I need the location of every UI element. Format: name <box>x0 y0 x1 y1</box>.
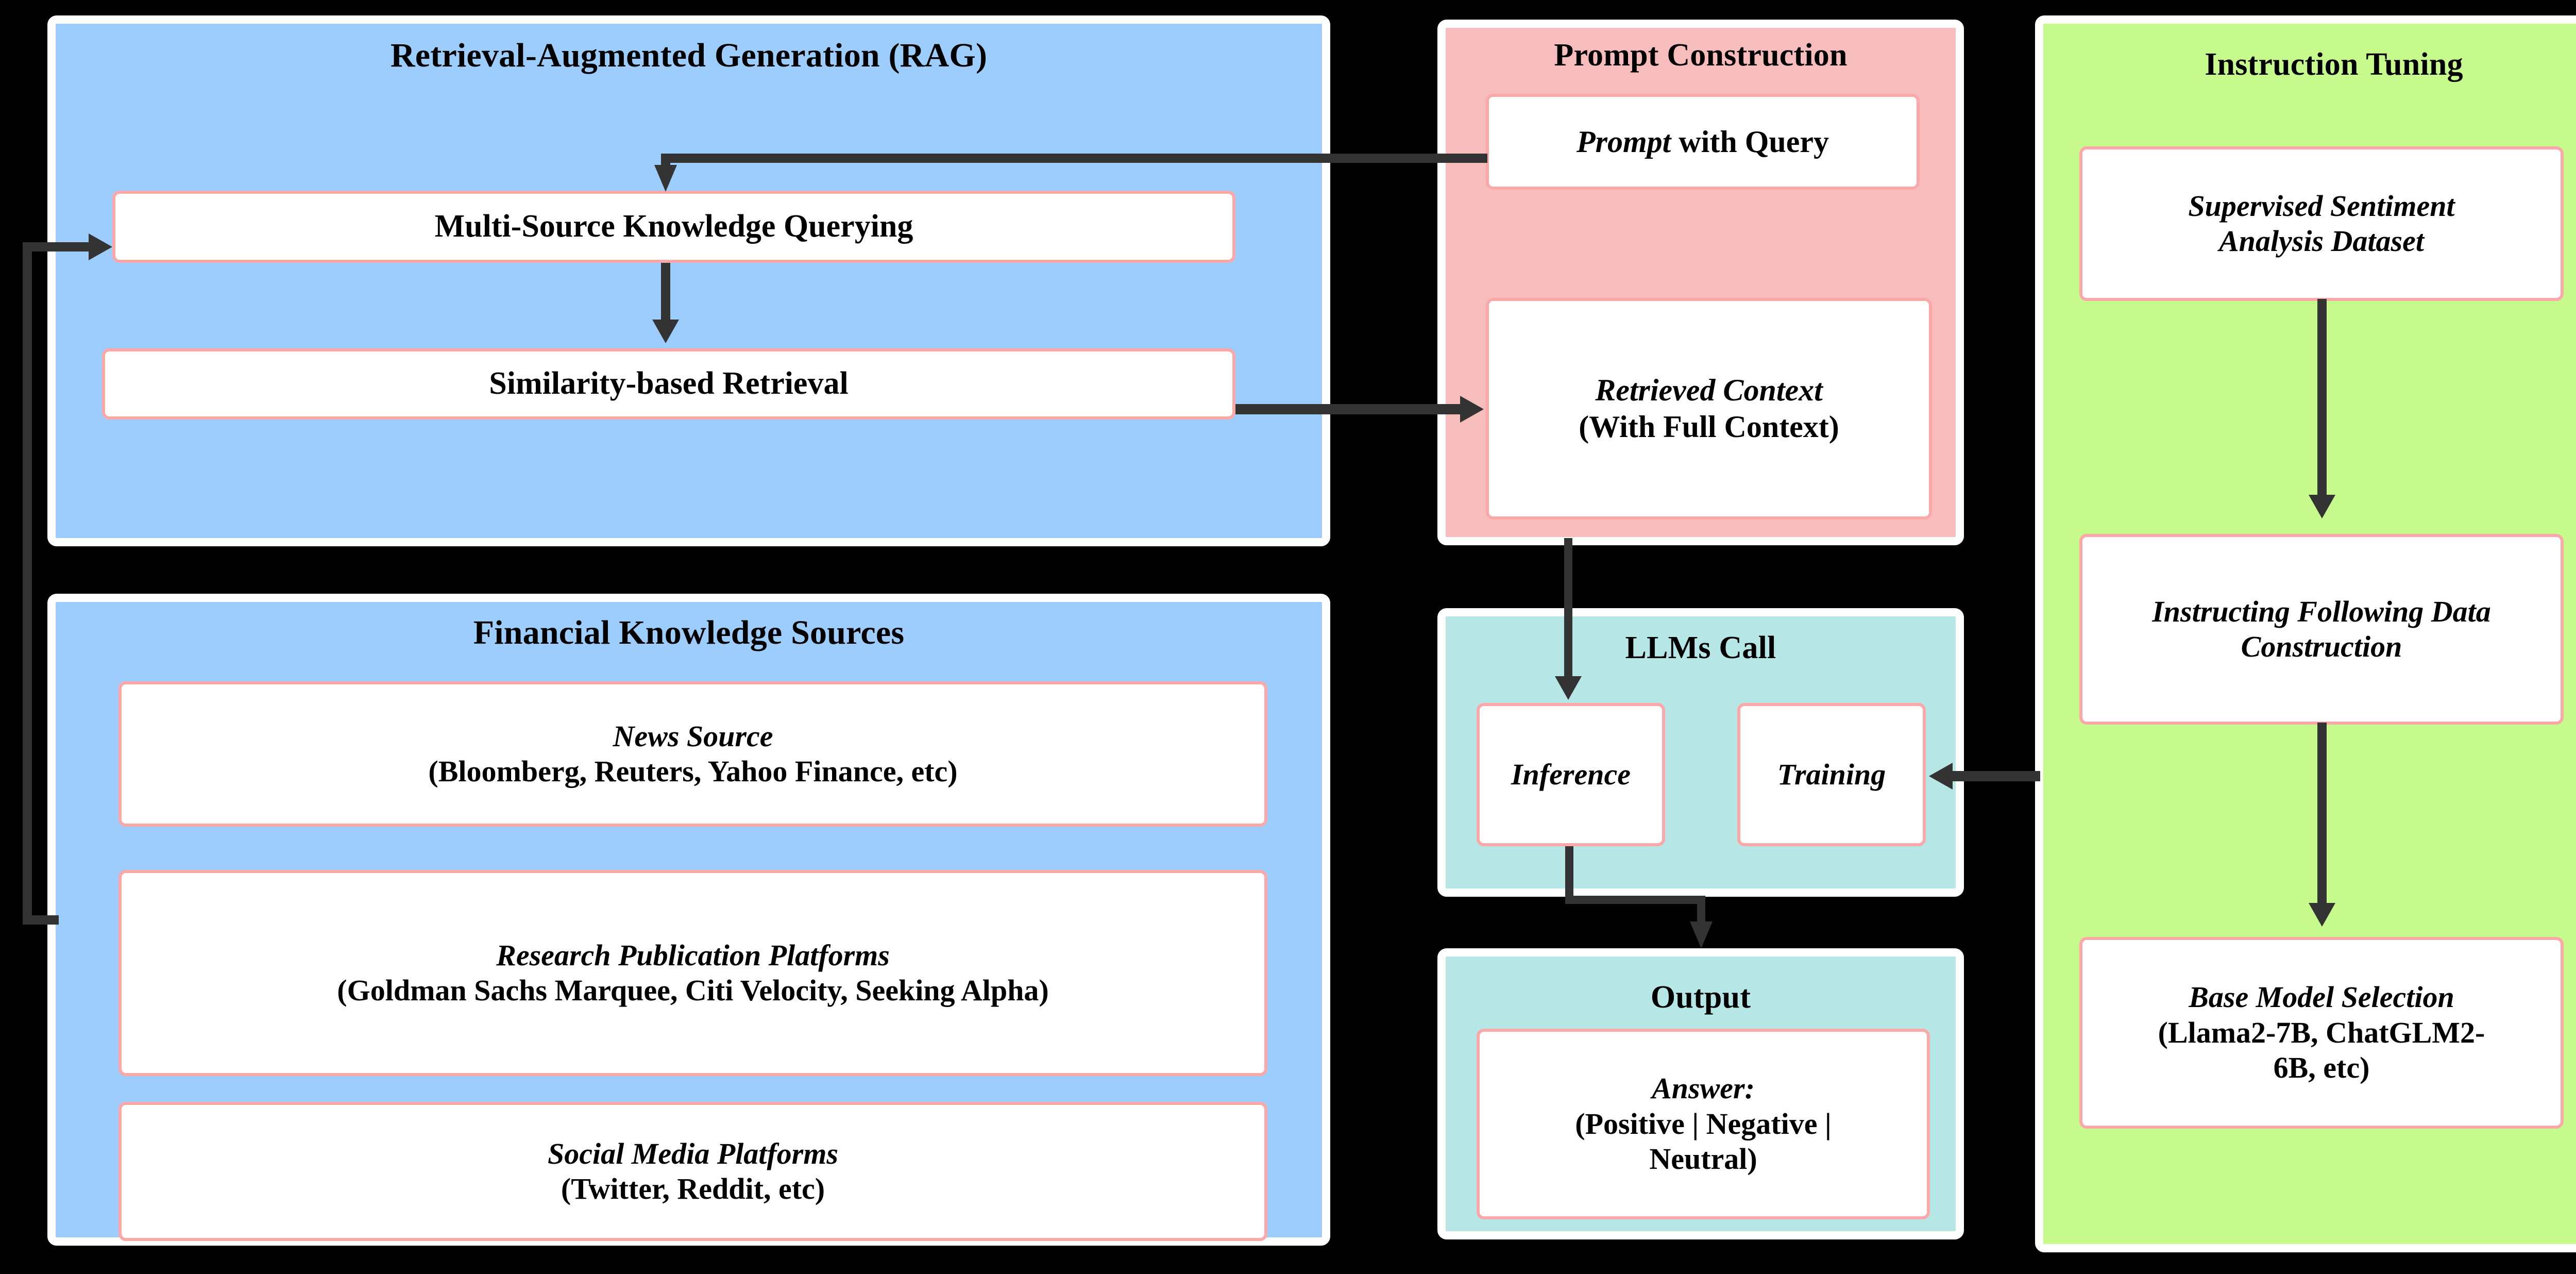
card-supervised-sentiment-analysis-dataset[interactable]: Supervised Sentiment Analysis Dataset <box>2079 146 2564 301</box>
panel-tuning-title: Instruction Tuning <box>2043 46 2576 83</box>
arrowhead-dataset-to-instruction-data <box>2309 495 2335 518</box>
card-label: Inference <box>1511 757 1631 792</box>
card-line-3: 6B, etc) <box>2274 1050 2370 1085</box>
panel-llm-title: LLMs Call <box>1443 630 1959 666</box>
card-social-media-platforms[interactable]: Social Media Platforms (Twitter, Reddit,… <box>118 1102 1267 1241</box>
connector-sources-feedback-vertical <box>23 242 32 923</box>
card-line-2: (Goldman Sachs Marquee, Citi Velocity, S… <box>337 973 1048 1008</box>
card-line-1: Retrieved Context <box>1595 372 1823 409</box>
card-base-model-selection[interactable]: Base Model Selection (Llama2-7B, ChatGLM… <box>2079 937 2564 1129</box>
card-line-2: (With Full Context) <box>1579 409 1839 445</box>
card-line-1: Research Publication Platforms <box>496 938 890 973</box>
connector-multi-source-to-similarity-vertical <box>661 263 670 321</box>
card-line-3: Neutral) <box>1649 1142 1757 1177</box>
card-line-1: Instructing Following Data <box>2152 594 2491 629</box>
card-line-2: with Query <box>1671 125 1829 159</box>
arrowhead-similarity-to-retrieved-context <box>1460 396 1484 423</box>
arrowhead-retrieved-context-to-inference <box>1555 676 1582 700</box>
card-line-2: (Bloomberg, Reuters, Yahoo Finance, etc) <box>428 754 957 789</box>
panel-sources-title: Financial Knowledge Sources <box>56 613 1322 652</box>
card-label: Training <box>1777 757 1886 792</box>
panel-rag <box>47 15 1330 546</box>
card-retrieved-context[interactable]: Retrieved Context (With Full Context) <box>1486 298 1932 519</box>
connector-similarity-to-retrieved-context-horizontal <box>1235 404 1462 414</box>
card-news-source[interactable]: News Source (Bloomberg, Reuters, Yahoo F… <box>118 681 1267 827</box>
arrowhead-multi-source-to-similarity <box>652 320 679 343</box>
connector-inference-to-output-horizontal <box>1565 896 1701 904</box>
panel-rag-title: Retrieval-Augmented Generation (RAG) <box>56 36 1322 75</box>
connector-dataset-to-instruction-data-vertical <box>2317 299 2327 500</box>
panel-output-title: Output <box>1443 979 1959 1016</box>
card-label: Prompt with Query <box>1577 124 1829 160</box>
card-line-2: Analysis Dataset <box>2219 224 2424 259</box>
connector-instruction-data-to-base-model-vertical <box>2317 723 2327 907</box>
card-line-1: Base Model Selection <box>2189 980 2454 1015</box>
card-line-1: News Source <box>613 719 773 754</box>
panel-prompt-title: Prompt Construction <box>1443 37 1959 74</box>
connector-tuning-to-training-horizontal <box>1953 771 2040 781</box>
diagram-canvas: Retrieval-Augmented Generation (RAG) Mul… <box>0 0 2576 1274</box>
card-prompt-with-query[interactable]: Prompt with Query <box>1486 94 1920 190</box>
card-line-1: Prompt <box>1577 125 1671 159</box>
card-similarity-based-retrieval[interactable]: Similarity-based Retrieval <box>102 348 1235 420</box>
arrowhead-prompt-query-to-multi-source <box>654 165 677 192</box>
card-line-1: Social Media Platforms <box>548 1136 838 1171</box>
card-answer[interactable]: Answer: (Positive | Negative | Neutral) <box>1477 1029 1930 1219</box>
card-line-2: (Positive | Negative | <box>1575 1107 1831 1142</box>
card-training[interactable]: Training <box>1737 703 1926 846</box>
connector-prompt-query-to-multi-source-horizontal <box>661 154 1487 163</box>
arrowhead-inference-to-output <box>1690 921 1713 948</box>
card-research-publication-platforms[interactable]: Research Publication Platforms (Goldman … <box>118 870 1267 1076</box>
card-label: Multi-Source Knowledge Querying <box>435 208 913 245</box>
card-line-2: Construction <box>2241 629 2402 664</box>
connector-retrieved-context-to-inference-vertical <box>1564 538 1572 680</box>
arrowhead-tuning-to-training <box>1929 763 1953 790</box>
card-label: Similarity-based Retrieval <box>489 365 848 403</box>
card-line-2: (Twitter, Reddit, etc) <box>561 1171 825 1206</box>
card-line-1: Answer: <box>1652 1071 1755 1106</box>
card-multi-source-knowledge-querying[interactable]: Multi-Source Knowledge Querying <box>112 191 1235 263</box>
arrowhead-instruction-data-to-base-model <box>2309 903 2335 927</box>
arrowhead-sources-feedback-to-multi-source <box>89 233 112 260</box>
card-instructing-following-data-construction[interactable]: Instructing Following Data Construction <box>2079 534 2564 725</box>
card-line-2: (Llama2-7B, ChatGLM2- <box>2158 1015 2485 1050</box>
card-inference[interactable]: Inference <box>1477 703 1665 846</box>
card-line-1: Supervised Sentiment <box>2188 189 2454 224</box>
